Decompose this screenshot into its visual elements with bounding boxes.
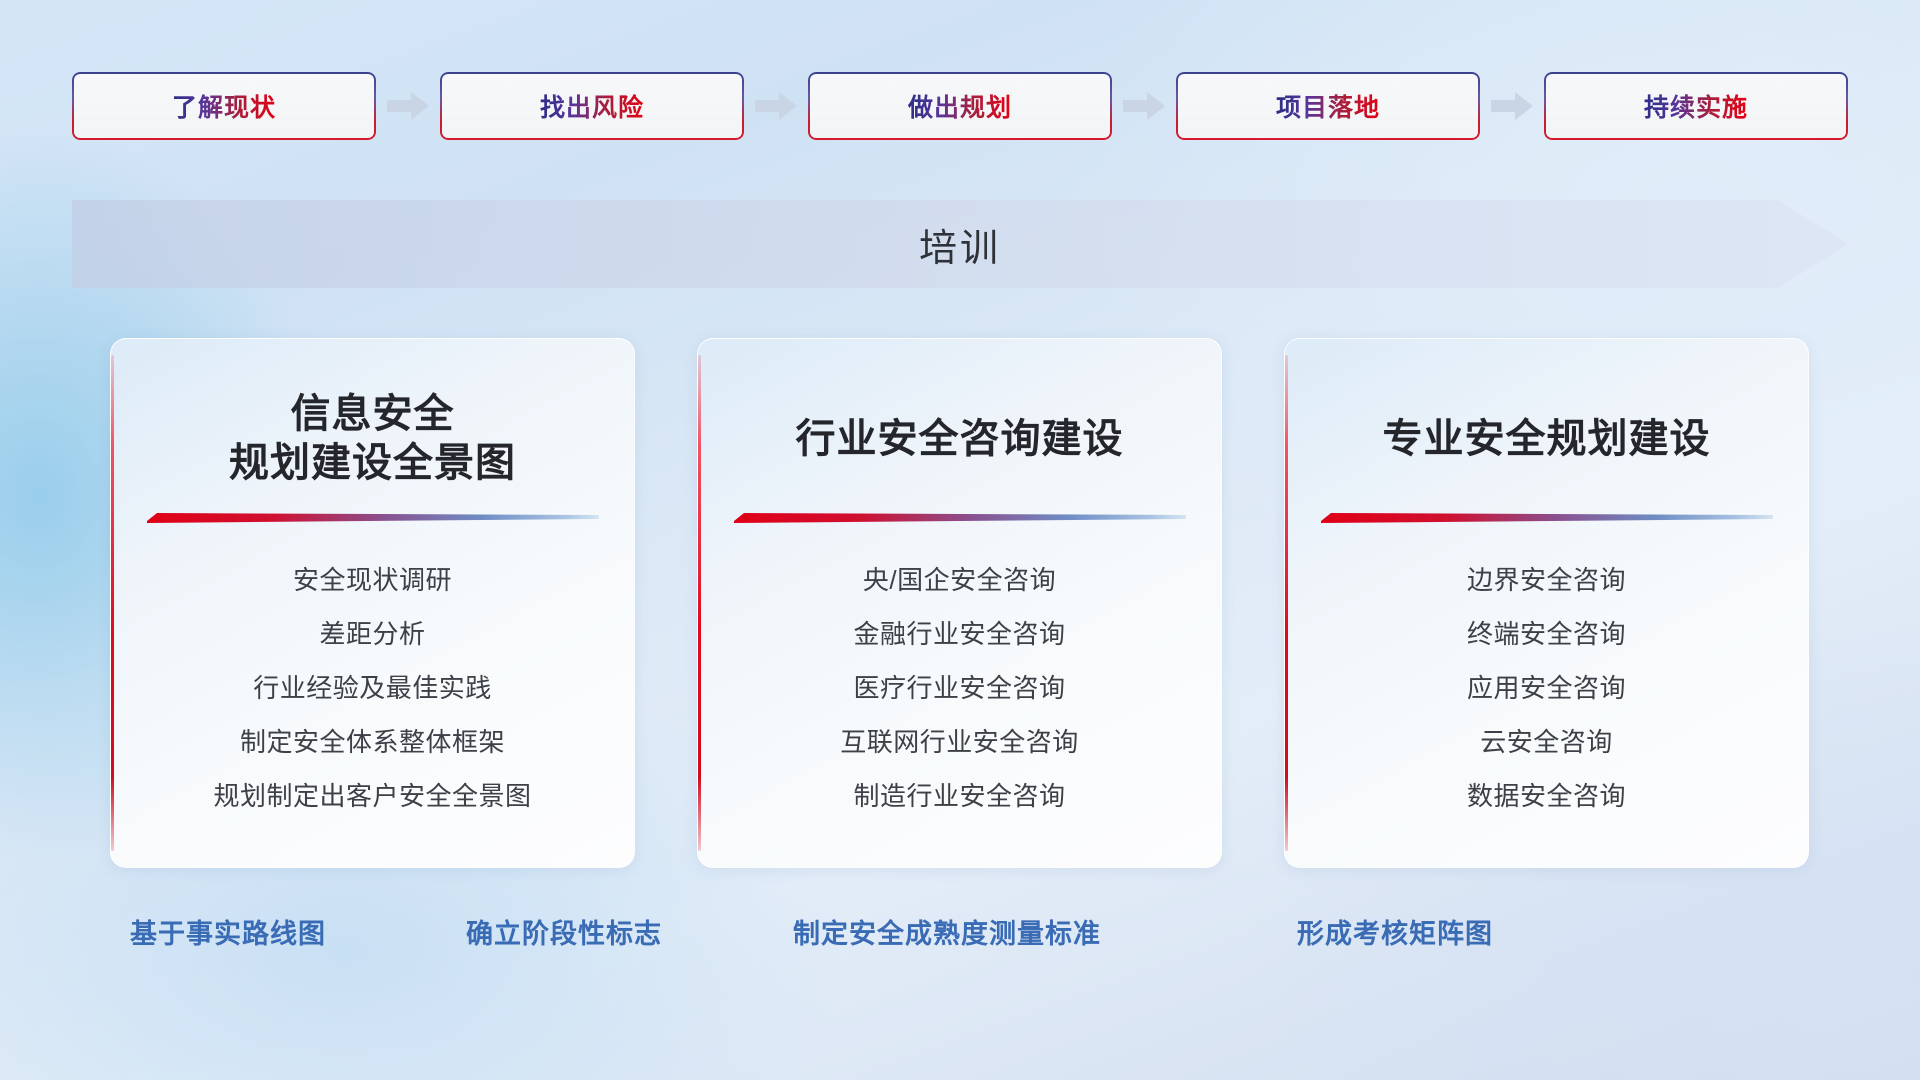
card-left-accent xyxy=(698,355,701,851)
step-connector-4 xyxy=(1480,72,1544,140)
list-item: 制造行业安全咨询 xyxy=(853,775,1065,817)
card-1[interactable]: 信息安全 规划建设全景图 安全现状调研 差 xyxy=(110,338,635,868)
card-row: 信息安全 规划建设全景图 安全现状调研 差 xyxy=(110,338,1810,868)
list-item: 终端安全咨询 xyxy=(1467,613,1626,655)
list-item: 互联网行业安全咨询 xyxy=(840,721,1079,763)
card-title: 专业安全规划建设 xyxy=(1319,387,1774,491)
bottom-label-1: 基于事实路线图 xyxy=(130,905,326,957)
card-title: 行业安全咨询建设 xyxy=(732,387,1187,491)
list-item: 云安全咨询 xyxy=(1480,721,1613,763)
card-3[interactable]: 专业安全规划建设 边界安全咨询 终端安全咨询 xyxy=(1284,338,1809,868)
list-item: 差距分析 xyxy=(319,613,425,655)
list-item: 规划制定出客户安全全景图 xyxy=(213,775,531,817)
card-title-line: 规划建设全景图 xyxy=(229,439,516,488)
bottom-label-4: 形成考核矩阵图 xyxy=(1297,905,1493,957)
right-arrow-icon xyxy=(755,92,797,120)
card-2[interactable]: 行业安全咨询建设 央/国企安全咨询 金融行业安全咨询 xyxy=(697,338,1222,868)
card-title: 信息安全 规划建设全景图 xyxy=(145,387,600,491)
card-title-line: 行业安全咨询建设 xyxy=(796,415,1124,464)
tapered-gradient-rule-icon xyxy=(147,511,599,525)
list-item: 行业经验及最佳实践 xyxy=(253,667,492,709)
card-divider xyxy=(147,511,599,525)
tapered-gradient-rule-icon xyxy=(734,511,1186,525)
step-label: 找出风险 xyxy=(540,88,644,124)
list-item: 边界安全咨询 xyxy=(1467,559,1626,601)
list-item: 金融行业安全咨询 xyxy=(853,613,1065,655)
step-label: 持续实施 xyxy=(1644,88,1748,124)
step-box-1[interactable]: 了解现状 xyxy=(72,72,376,140)
list-item: 应用安全咨询 xyxy=(1467,667,1626,709)
step-connector-3 xyxy=(1112,72,1176,140)
list-item: 制定安全体系整体框架 xyxy=(240,721,505,763)
right-arrow-icon xyxy=(387,92,429,120)
card-list: 央/国企安全咨询 金融行业安全咨询 医疗行业安全咨询 互联网行业安全咨询 制造行… xyxy=(732,559,1187,818)
card-divider xyxy=(1321,511,1773,525)
step-label: 了解现状 xyxy=(172,88,276,124)
bottom-label-3: 制定安全成熟度测量标准 xyxy=(793,905,1101,957)
list-item: 数据安全咨询 xyxy=(1467,775,1626,817)
step-label: 项目落地 xyxy=(1276,88,1380,124)
step-box-2[interactable]: 找出风险 xyxy=(440,72,744,140)
list-item: 央/国企安全咨询 xyxy=(863,559,1056,601)
card-left-accent xyxy=(1285,355,1288,851)
card-title-line: 专业安全规划建设 xyxy=(1383,415,1711,464)
bottom-label-2: 确立阶段性标志 xyxy=(466,905,662,957)
step-connector-1 xyxy=(376,72,440,140)
process-step-row: 了解现状 找出风险 做出规划 项目落地 持续实施 xyxy=(72,72,1848,140)
banner-title: 培训 xyxy=(72,200,1848,288)
step-box-4[interactable]: 项目落地 xyxy=(1176,72,1480,140)
step-connector-2 xyxy=(744,72,808,140)
card-list: 边界安全咨询 终端安全咨询 应用安全咨询 云安全咨询 数据安全咨询 xyxy=(1319,559,1774,818)
card-divider xyxy=(734,511,1186,525)
list-item: 安全现状调研 xyxy=(293,559,452,601)
card-title-line: 信息安全 xyxy=(291,390,455,439)
list-item: 医疗行业安全咨询 xyxy=(853,667,1065,709)
tapered-gradient-rule-icon xyxy=(1321,511,1773,525)
step-box-3[interactable]: 做出规划 xyxy=(808,72,1112,140)
step-label: 做出规划 xyxy=(908,88,1012,124)
right-arrow-icon xyxy=(1123,92,1165,120)
bottom-label-row: 基于事实路线图 确立阶段性标志 制定安全成熟度测量标准 形成考核矩阵图 xyxy=(0,905,1920,957)
card-left-accent xyxy=(111,355,114,851)
step-box-5[interactable]: 持续实施 xyxy=(1544,72,1848,140)
right-arrow-icon xyxy=(1491,92,1533,120)
training-banner: 培训 xyxy=(72,200,1848,288)
card-list: 安全现状调研 差距分析 行业经验及最佳实践 制定安全体系整体框架 规划制定出客户… xyxy=(145,559,600,818)
